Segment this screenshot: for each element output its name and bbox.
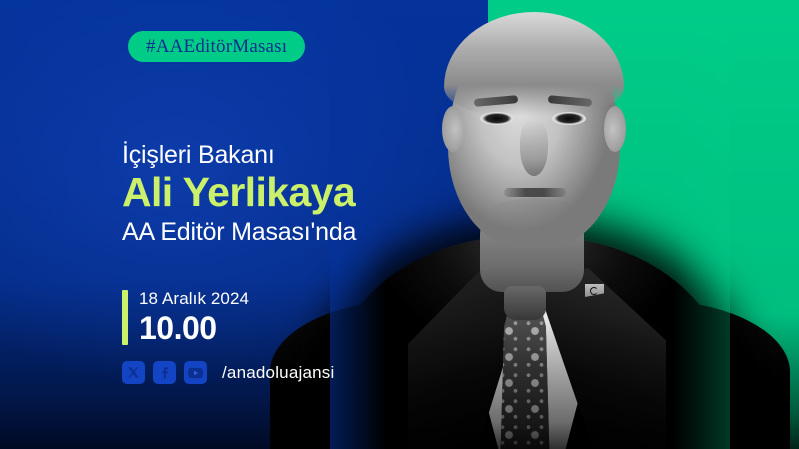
- person-name: Ali Yerlikaya: [122, 170, 356, 216]
- promo-graphic: #AAEditörMasası İçişleri Bakanı Ali Yerl…: [0, 0, 799, 449]
- ear-right: [604, 106, 626, 152]
- hashtag-badge: #AAEditörMasası: [128, 31, 305, 62]
- hair: [444, 12, 624, 116]
- headline-block: İçişleri Bakanı Ali Yerlikaya AA Editör …: [122, 142, 356, 245]
- datetime-block: 18 Aralık 2024 10.00: [122, 290, 249, 345]
- accent-bar: [122, 290, 128, 345]
- eye-left: [480, 112, 514, 125]
- x-twitter-icon[interactable]: [122, 361, 145, 384]
- social-handle: /anadoluajansi: [222, 363, 334, 383]
- portrait-photo: [330, 0, 730, 449]
- person-role: İçişleri Bakanı: [122, 142, 356, 168]
- nose: [520, 120, 548, 176]
- necktie-knot: [504, 286, 546, 320]
- youtube-icon[interactable]: [184, 361, 207, 384]
- program-name: AA Editör Masası'nda: [122, 219, 356, 245]
- facebook-icon[interactable]: [153, 361, 176, 384]
- eye-right: [552, 112, 586, 125]
- ear-left: [442, 106, 464, 152]
- mouth: [504, 188, 566, 197]
- social-row: /anadoluajansi: [122, 361, 334, 384]
- datetime-text: 18 Aralık 2024 10.00: [139, 290, 249, 345]
- broadcast-time: 10.00: [139, 311, 249, 346]
- chin-shadow: [480, 198, 590, 246]
- broadcast-date: 18 Aralık 2024: [139, 290, 249, 309]
